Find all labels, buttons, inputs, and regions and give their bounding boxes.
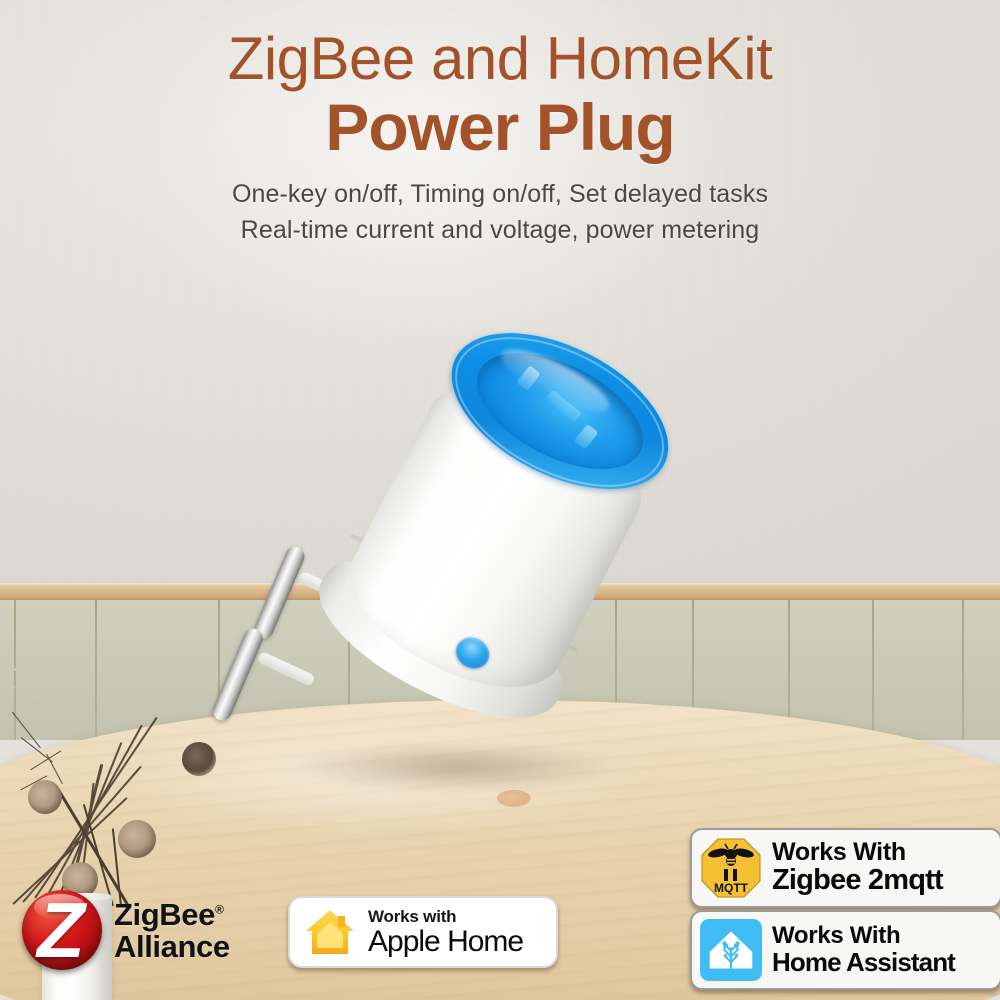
mqtt-bee-octagon-icon: MQTT (700, 837, 762, 899)
apple-home-line2: Apple Home (368, 927, 523, 957)
feature-line-1: One-key on/off, Timing on/off, Set delay… (0, 176, 1000, 212)
zigbee-alliance-line1: ZigBee (114, 897, 215, 932)
feature-line-2: Real-time current and voltage, power met… (0, 212, 1000, 248)
zigbee-alliance-line2: Alliance (114, 931, 230, 962)
zigbee-alliance-logo: Z ZigBee® Alliance (18, 880, 268, 980)
home-assistant-line1: Works With (772, 924, 955, 948)
home-assistant-line2: Home Assistant (772, 949, 955, 976)
zigbee2mqtt-line1: Works With (772, 840, 943, 866)
zigbee2mqtt-badge[interactable]: MQTT Works With Zigbee 2mqtt (690, 828, 1000, 908)
plug-pin (210, 626, 266, 724)
smart-power-plug (250, 336, 710, 826)
apple-home-house-icon (304, 907, 356, 957)
page-title-line1: ZigBee and HomeKit (0, 26, 1000, 92)
marketing-copy: ZigBee and HomeKit Power Plug One-key on… (0, 26, 1000, 248)
zigbee2mqtt-line2: Zigbee 2mqtt (772, 866, 943, 896)
home-assistant-badge[interactable]: Works With Home Assistant (690, 910, 1000, 990)
earth-clip (256, 651, 315, 687)
apple-home-line1: Works with (368, 908, 523, 925)
home-assistant-house-icon (700, 919, 762, 981)
zigbee-z-orb-icon: Z (18, 884, 104, 976)
page-title-line2: Power Plug (0, 90, 1000, 164)
apple-home-badge[interactable]: Works with Apple Home (288, 896, 558, 968)
svg-text:MQTT: MQTT (714, 881, 749, 895)
panel-seam (872, 600, 874, 740)
panel-seam (962, 600, 964, 740)
registered-mark: ® (215, 902, 223, 916)
plug-pin (252, 544, 308, 642)
